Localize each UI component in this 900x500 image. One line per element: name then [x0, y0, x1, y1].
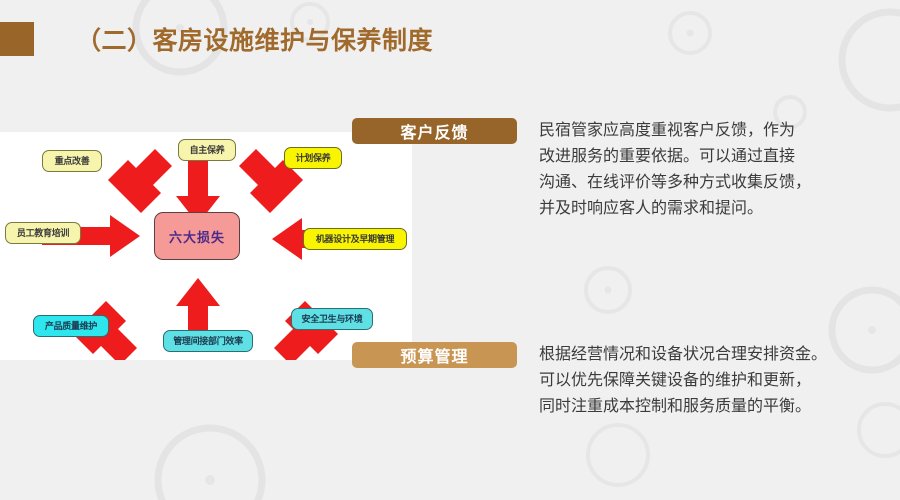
section-body-budget-management: 根据经营情况和设备状况合理安排资金。 可以优先保障关键设备的维护和更新， 同时注… [539, 342, 827, 420]
diagram-node-safety-hygiene: 安全卫生与环境 [291, 308, 373, 330]
status-badge-budget-management: 预算管理 [352, 342, 517, 368]
section-budget-management: 预算管理 根据经营情况和设备状况合理安排资金。 可以优先保障关键设备的维护和更新… [352, 342, 827, 420]
section-customer-feedback: 客户反馈 民宿管家应高度重视客户反馈，作为 改进服务的重要依据。可以通过直接 沟… [352, 118, 811, 222]
slide-header: （二）客房设施维护与保养制度 [0, 18, 433, 60]
diagram-node-planned-maintenance: 计划保养 [284, 147, 342, 169]
diagram-node-dept-efficiency: 管理间接部门效率 [163, 330, 253, 352]
diagram-node-key-improvement: 重点改善 [42, 150, 102, 172]
diagram-node-autonomous-maintenance: 自主保养 [178, 139, 236, 161]
status-badge-customer-feedback: 客户反馈 [352, 118, 517, 144]
diagram-center-node: 六大损失 [154, 212, 240, 260]
section-body-customer-feedback: 民宿管家应高度重视客户反馈，作为 改进服务的重要依据。可以通过直接 沟通、在线评… [539, 118, 811, 222]
six-big-losses-diagram: 重点改善 自主保养 计划保养 员工教育培训 机器设计及早期管理 产品质量维护 管… [0, 132, 412, 360]
diagram-node-machine-design: 机器设计及早期管理 [303, 228, 407, 250]
page-title: （二）客房设施维护与保养制度 [76, 21, 433, 57]
diagram-node-product-quality: 产品质量维护 [33, 315, 109, 337]
square-marker-icon [0, 22, 34, 56]
diagram-node-staff-education: 员工教育培训 [5, 222, 81, 244]
